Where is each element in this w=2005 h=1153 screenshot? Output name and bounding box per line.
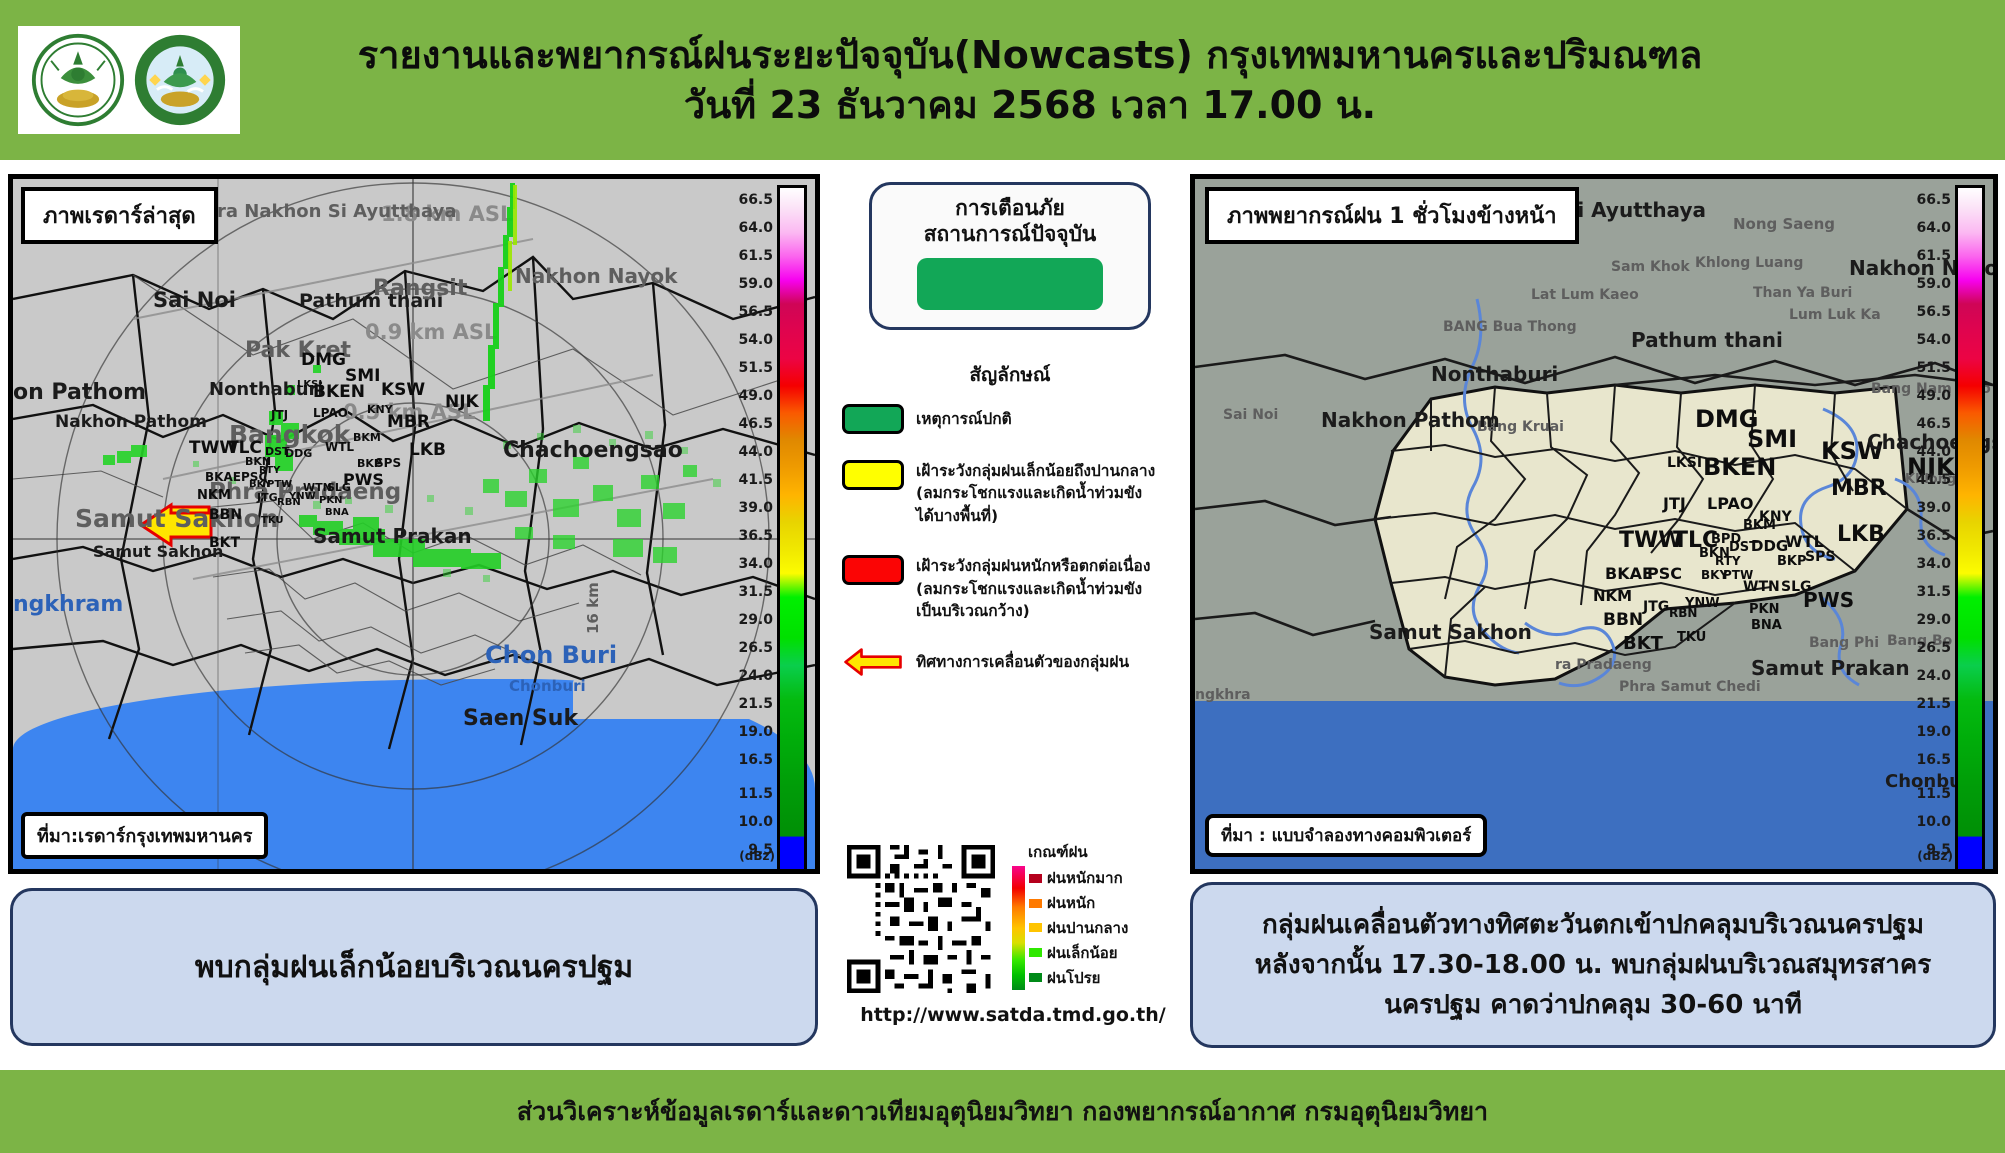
tick: 54.0 <box>1916 333 1951 347</box>
svg-text:JTJ: JTJ <box>1662 494 1686 513</box>
tick: 41.5 <box>1916 473 1951 487</box>
tick: 54.0 <box>738 333 773 347</box>
alert-status-swatch <box>917 258 1103 310</box>
range-ring-label-16km: 16 km <box>584 582 602 634</box>
svg-text:DDG: DDG <box>285 447 312 460</box>
tick: 34.0 <box>738 557 773 571</box>
svg-text:BNA: BNA <box>1751 618 1782 633</box>
satda-website-url[interactable]: http://www.satda.tmd.go.th/ <box>842 1004 1184 1026</box>
svg-text:LKB: LKB <box>1837 522 1885 547</box>
tick: 49.0 <box>1916 389 1951 403</box>
svg-text:NJK: NJK <box>445 392 480 412</box>
forecast-dbz-colorbar: 66.5 64.0 61.5 59.0 56.5 54.0 51.5 49.0 … <box>1905 179 1993 869</box>
svg-text:JTG: JTG <box>256 491 278 504</box>
logo-container <box>18 26 240 134</box>
svg-text:PWS: PWS <box>1803 588 1854 612</box>
tick: 64.0 <box>738 221 773 235</box>
forecast-summary-line2: หลังจากนั้น 17.30-18.00 น. พบกลุ่มฝนบริเ… <box>1255 950 1931 980</box>
qr-and-rain-scale: เกณฑ์ฝน ฝนหนักมาก ฝนหนัก <box>842 840 1184 1026</box>
tick: 56.5 <box>738 305 773 319</box>
svg-text:LPAO: LPAO <box>1707 494 1753 513</box>
svg-text:PTW: PTW <box>267 479 292 490</box>
tick: 46.5 <box>1916 417 1951 431</box>
svg-text:MBR: MBR <box>387 412 430 432</box>
svg-text:TKU: TKU <box>1677 630 1706 645</box>
rain-scale-item: ฝนหนักมาก <box>1029 866 1128 891</box>
tick: 39.0 <box>738 501 773 515</box>
legend-item-watch-heavy: เฝ้าระวังกลุ่มฝนหนักหรือตกต่อเนื่อง (ลมก… <box>842 555 1184 622</box>
svg-text:Samut Sakhon: Samut Sakhon <box>75 504 279 533</box>
tick: 26.5 <box>1916 641 1951 655</box>
forecast-summary-line1: กลุ่มฝนเคลื่อนตัวทางทิศตะวันตกเข้าปกคลุม… <box>1262 910 1924 940</box>
radar-summary-box: พบกลุ่มฝนเล็กน้อยบริเวณนครปฐม <box>10 888 818 1046</box>
tick: 59.0 <box>738 277 773 291</box>
tick: 41.5 <box>738 473 773 487</box>
tick: 66.5 <box>1916 193 1951 207</box>
svg-text:DMG: DMG <box>301 350 346 370</box>
alert-title-line2: สถานการณ์ปัจจุบัน <box>924 222 1097 246</box>
svg-text:BKAE: BKAE <box>1605 564 1653 583</box>
legend-label-watch-light: เฝ้าระวังกลุ่มฝนเล็กน้อยถึงปานกลาง (ลมกร… <box>916 460 1155 527</box>
radar-summary-text: พบกลุ่มฝนเล็กน้อยบริเวณนครปฐม <box>195 944 633 991</box>
tick: 26.5 <box>738 641 773 655</box>
svg-text:Phra Nakhon Si Ayutthaya: Phra Nakhon Si Ayutthaya <box>191 201 456 222</box>
rain-label-light: ฝนเล็กน้อย <box>1047 941 1118 965</box>
tick: 21.5 <box>1916 697 1951 711</box>
rain-chip-moderate <box>1029 923 1042 932</box>
legend-label-normal: เหตุการณ์ปกติ <box>916 408 1012 430</box>
tick: 11.5 <box>1916 787 1951 801</box>
page-title: รายงานและพยากรณ์ฝนระยะปัจจุบัน(Nowcasts)… <box>250 30 1810 130</box>
tick: 44.0 <box>1916 445 1951 459</box>
rain-label-moderate: ฝนปานกลาง <box>1047 916 1128 940</box>
legend-list: เหตุการณ์ปกติ เฝ้าระวังกลุ่มฝนเล็กน้อยถึ… <box>836 404 1184 679</box>
radar-latest-panel[interactable]: 1.8 km ASL 0.9 km ASL 0.5 km ASL 16 km <box>8 174 820 874</box>
svg-text:Nakhon Nayok: Nakhon Nayok <box>515 264 678 288</box>
svg-text:SPS: SPS <box>1805 549 1835 565</box>
rain-scale-title: เกณฑ์ฝน <box>1028 840 1128 864</box>
forecast-summary-text: กลุ่มฝนเคลื่อนตัวทางทิศตะวันตกเข้าปกคลุม… <box>1255 905 1931 1026</box>
tick: 16.5 <box>1916 753 1951 767</box>
legend-yellow-line2: (ลมกระโชกแรงและเกิดน้ำท่วมขัง <box>916 484 1142 502</box>
page-header: รายงานและพยากรณ์ฝนระยะปัจจุบัน(Nowcasts)… <box>0 0 2005 160</box>
tick: 49.0 <box>738 389 773 403</box>
content-area: 1.8 km ASL 0.9 km ASL 0.5 km ASL 16 km <box>0 160 2005 1070</box>
svg-text:Bang Phi: Bang Phi <box>1809 635 1879 651</box>
rain-chip-heavy <box>1029 899 1042 908</box>
svg-text:JTJ: JTJ <box>270 408 288 422</box>
legend-column: การเตือนภัย สถานการณ์ปัจจุบัน สัญลักษณ์ … <box>836 174 1184 1054</box>
svg-text:NKM: NKM <box>1593 587 1632 605</box>
svg-text:PKN: PKN <box>1749 602 1779 617</box>
svg-text:Khlong Luang: Khlong Luang <box>1695 255 1803 271</box>
radar-map-overlay: 1.8 km ASL 0.9 km ASL 0.5 km ASL 16 km <box>13 179 815 869</box>
svg-text:WTL: WTL <box>325 440 354 454</box>
tick: 21.5 <box>738 697 773 711</box>
radar-colorbar-ticks: 66.5 64.0 61.5 59.0 56.5 54.0 51.5 49.0 … <box>729 179 773 874</box>
svg-text:Chon Buri: Chon Buri <box>485 641 617 669</box>
svg-text:Samut Prakan: Samut Prakan <box>1751 656 1910 680</box>
forecast-summary-line3: นครปฐม คาดว่าปกคลุม 30-60 นาที <box>1384 990 1802 1020</box>
legend-label-watch-heavy: เฝ้าระวังกลุ่มฝนหนักหรือตกต่อเนื่อง (ลมก… <box>916 555 1150 622</box>
qr-code-satda-tmd[interactable] <box>842 840 1000 998</box>
svg-text:Lum Luk Ka: Lum Luk Ka <box>1789 307 1881 323</box>
asl-label-2: 0.9 km ASL <box>365 320 497 344</box>
rain-intensity-scale: เกณฑ์ฝน ฝนหนักมาก ฝนหนัก <box>1012 840 1128 990</box>
rain-chip-very-heavy <box>1029 874 1042 883</box>
alert-status-card: การเตือนภัย สถานการณ์ปัจจุบัน <box>869 182 1151 330</box>
legend-red-line3: เป็นบริเวณกว้าง) <box>916 602 1030 620</box>
svg-text:Lat Lum Kaeo: Lat Lum Kaeo <box>1531 287 1639 303</box>
svg-text:KSW: KSW <box>381 380 425 400</box>
svg-text:BKEN: BKEN <box>1703 453 1776 481</box>
svg-text:LKSI: LKSI <box>297 379 322 390</box>
svg-text:Saen Suk: Saen Suk <box>463 706 579 731</box>
motion-arrow-icon <box>842 645 904 679</box>
tick: 56.5 <box>1916 305 1951 319</box>
svg-text:Rangsit: Rangsit <box>373 276 468 301</box>
svg-text:RTY: RTY <box>1715 554 1741 568</box>
rain-label-very-heavy: ฝนหนักมาก <box>1047 866 1123 890</box>
tick: 11.5 <box>738 787 773 801</box>
svg-text:SMI: SMI <box>1747 425 1797 453</box>
legend-item-motion-direction: ทิศทางการเคลื่อนตัวของกลุ่มฝน <box>842 645 1184 679</box>
alert-card-title: การเตือนภัย สถานการณ์ปัจจุบัน <box>924 195 1097 248</box>
tick: 29.0 <box>1916 613 1951 627</box>
tick: 24.0 <box>738 669 773 683</box>
tick: 64.0 <box>1916 221 1951 235</box>
svg-text:SPS: SPS <box>375 456 401 470</box>
svg-text:Than Ya Buri: Than Ya Buri <box>1753 285 1852 301</box>
svg-text:on Pathom: on Pathom <box>13 380 146 405</box>
footer-text: ส่วนวิเคราะห์ข้อมูลเรดาร์และดาวเทียมอุตุ… <box>517 1092 1488 1132</box>
svg-text:PKN: PKN <box>319 495 342 506</box>
radar-colorbar-unit: (dBz) <box>739 849 775 863</box>
svg-text:JTG: JTG <box>1642 599 1669 615</box>
tick: 61.5 <box>1916 249 1951 263</box>
legend-swatch-green <box>842 404 904 434</box>
tick: 51.5 <box>1916 361 1951 375</box>
tick: 59.0 <box>1916 277 1951 291</box>
svg-text:Phra Samut Chedi: Phra Samut Chedi <box>1619 679 1761 695</box>
page-title-line1: รายงานและพยากรณ์ฝนระยะปัจจุบัน(Nowcasts)… <box>358 33 1703 77</box>
tick: 36.5 <box>738 529 773 543</box>
svg-text:Nakhon Pathom: Nakhon Pathom <box>1321 408 1500 432</box>
tick: 31.5 <box>738 585 773 599</box>
tick: 66.5 <box>738 193 773 207</box>
radar-source-label: ที่มา:เรดาร์กรุงเทพมหานคร <box>21 812 268 859</box>
svg-text:BKT: BKT <box>1623 633 1664 654</box>
svg-text:BNA: BNA <box>325 507 349 518</box>
tick: 36.5 <box>1916 529 1951 543</box>
rain-scale-items: ฝนหนักมาก ฝนหนัก ฝนปานกลาง <box>1029 866 1128 990</box>
legend-label-motion-direction: ทิศทางการเคลื่อนตัวของกลุ่มฝน <box>916 651 1129 673</box>
tick: 10.0 <box>738 815 773 829</box>
alert-title-line1: การเตือนภัย <box>955 196 1065 220</box>
tick: 44.0 <box>738 445 773 459</box>
legend-yellow-line1: เฝ้าระวังกลุ่มฝนเล็กน้อยถึงปานกลาง <box>916 462 1155 480</box>
svg-text:LKB: LKB <box>409 440 446 460</box>
tick: 39.0 <box>1916 501 1951 515</box>
rain-scale-gradient-bar <box>1012 866 1025 990</box>
svg-text:Nakhon Pathom: Nakhon Pathom <box>55 412 207 432</box>
tick: 31.5 <box>1916 585 1951 599</box>
svg-text:Samut Prakan: Samut Prakan <box>313 524 472 548</box>
radar-dbz-colorbar: 66.5 64.0 61.5 59.0 56.5 54.0 51.5 49.0 … <box>727 179 815 869</box>
forecast-colorbar-ticks: 66.5 64.0 61.5 59.0 56.5 54.0 51.5 49.0 … <box>1907 179 1951 874</box>
radar-panel-title: ภาพเรดาร์ล่าสุด <box>21 187 218 244</box>
legend-red-line1: เฝ้าระวังกลุ่มฝนหนักหรือตกต่อเนื่อง <box>916 557 1150 575</box>
tick: 29.0 <box>738 613 773 627</box>
svg-text:Samut Sakhon: Samut Sakhon <box>93 542 223 561</box>
radar-colorbar-gradient <box>777 185 807 873</box>
page-title-line2: วันที่ 23 ธันวาคม 2568 เวลา 17.00 น. <box>250 80 1810 130</box>
meteorological-department-logo <box>132 32 228 128</box>
rain-chip-light <box>1029 948 1042 957</box>
svg-text:Chachoengsao: Chachoengsao <box>503 438 683 463</box>
tick: 10.0 <box>1916 815 1951 829</box>
rain-scale-item: ฝนหนัก <box>1029 891 1128 916</box>
rain-scale-item: ฝนปานกลาง <box>1029 916 1128 941</box>
svg-text:BANG Bua Thong: BANG Bua Thong <box>1443 319 1577 335</box>
svg-text:BKAE: BKAE <box>205 470 241 484</box>
legend-swatch-yellow <box>842 460 904 490</box>
svg-text:LKSI: LKSI <box>1667 455 1702 471</box>
svg-text:Sai Noi: Sai Noi <box>1223 407 1278 423</box>
rain-label-drizzle: ฝนโปรย <box>1047 966 1100 990</box>
svg-text:YNW: YNW <box>1684 596 1720 611</box>
rain-scale-item: ฝนเล็กน้อย <box>1029 940 1128 965</box>
tick: 24.0 <box>1916 669 1951 683</box>
legend-item-watch-light: เฝ้าระวังกลุ่มฝนเล็กน้อยถึงปานกลาง (ลมกร… <box>842 460 1184 527</box>
tick: 19.0 <box>1916 725 1951 739</box>
svg-text:Nong Saeng: Nong Saeng <box>1733 215 1835 233</box>
svg-text:Sai Noi: Sai Noi <box>153 288 236 312</box>
forecast-summary-box: กลุ่มฝนเคลื่อนตัวทางทิศตะวันตกเข้าปกคลุม… <box>1190 882 1996 1048</box>
svg-text:NKM: NKM <box>197 488 231 503</box>
forecast-map-overlay: DMG SMI LKSI BKEN KSW NJK JTJ LPAO KNY M… <box>1195 179 1993 869</box>
svg-text:YNW: YNW <box>288 491 316 502</box>
svg-text:ngkhram: ngkhram <box>13 592 123 617</box>
svg-text:ra Pradaeng: ra Pradaeng <box>1555 657 1652 673</box>
svg-text:Chonburi: Chonburi <box>509 677 586 695</box>
tick: 61.5 <box>738 249 773 263</box>
nowcast-report-page: รายงานและพยากรณ์ฝนระยะปัจจุบัน(Nowcasts)… <box>0 0 2005 1153</box>
svg-text:BKM: BKM <box>1743 518 1776 533</box>
svg-text:Sam Khok: Sam Khok <box>1611 259 1690 275</box>
legend-yellow-line3: ได้บางพื้นที่) <box>916 507 998 525</box>
svg-text:RTY: RTY <box>259 465 281 476</box>
svg-text:ngkhra: ngkhra <box>1195 687 1251 703</box>
svg-text:TKU: TKU <box>261 515 284 526</box>
tick: 34.0 <box>1916 557 1951 571</box>
rain-forecast-panel[interactable]: DMG SMI LKSI BKEN KSW NJK JTJ LPAO KNY M… <box>1190 174 1998 874</box>
legend-heading: สัญลักษณ์ <box>836 360 1184 390</box>
rain-scale-item: ฝนโปรย <box>1029 965 1128 990</box>
tick: 19.0 <box>738 725 773 739</box>
svg-text:Samut Sakhon: Samut Sakhon <box>1369 620 1532 644</box>
svg-text:BBN: BBN <box>209 507 242 523</box>
svg-text:MBR: MBR <box>1831 476 1887 501</box>
svg-text:PSC: PSC <box>1647 564 1682 583</box>
svg-text:WTN: WTN <box>1743 579 1780 595</box>
forecast-colorbar-gradient <box>1955 185 1985 873</box>
svg-text:Nonthaburi: Nonthaburi <box>1431 362 1558 386</box>
svg-text:BKT: BKT <box>209 535 241 551</box>
svg-text:BKP: BKP <box>1777 554 1807 569</box>
svg-text:BKM: BKM <box>353 431 381 444</box>
svg-text:DDG: DDG <box>1751 537 1788 555</box>
tick: 51.5 <box>738 361 773 375</box>
forecast-source-label: ที่มา : แบบจำลองทางคอมพิวเตอร์ <box>1205 814 1487 857</box>
svg-text:PWS: PWS <box>343 470 384 489</box>
page-footer: ส่วนวิเคราะห์ข้อมูลเรดาร์และดาวเทียมอุตุ… <box>0 1070 2005 1153</box>
legend-swatch-red <box>842 555 904 585</box>
rain-chip-drizzle <box>1029 973 1042 982</box>
legend-red-line2: (ลมกระโชกแรงและเกิดน้ำท่วมขัง <box>916 580 1142 598</box>
svg-text:LPAO: LPAO <box>313 406 348 420</box>
forecast-colorbar-unit: (dBz) <box>1917 849 1953 863</box>
svg-text:Pathum thani: Pathum thani <box>1631 328 1783 352</box>
legend-item-normal: เหตุการณ์ปกติ <box>842 404 1184 434</box>
rain-label-heavy: ฝนหนัก <box>1047 891 1095 915</box>
forecast-panel-title: ภาพพยากรณ์ฝน 1 ชั่วโมงข้างหน้า <box>1205 187 1579 244</box>
tick: 16.5 <box>738 753 773 767</box>
svg-text:BBN: BBN <box>1603 610 1643 630</box>
tick: 46.5 <box>738 417 773 431</box>
tmd-seal-logo <box>30 32 126 128</box>
